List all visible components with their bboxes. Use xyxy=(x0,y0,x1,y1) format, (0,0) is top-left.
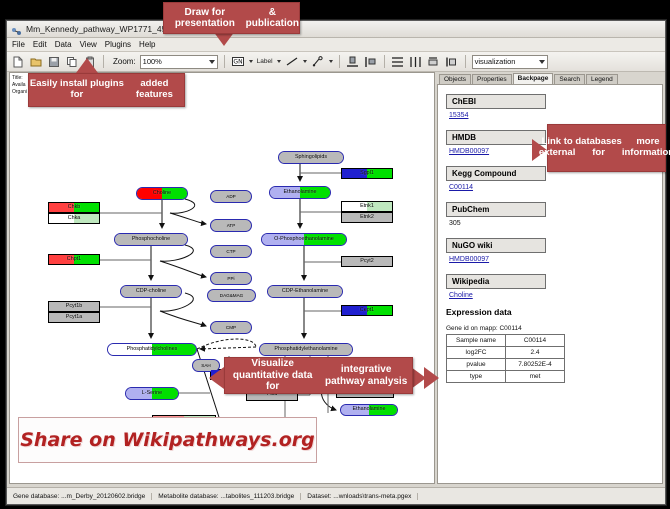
gene-node-pcyt2[interactable]: Pcyt2 xyxy=(341,256,393,267)
database-header-hmdb: HMDB xyxy=(446,130,546,145)
callout-expression-pointer xyxy=(424,367,439,389)
send-to-back-icon[interactable] xyxy=(445,55,459,69)
expression-row-value: met xyxy=(506,371,565,383)
window-titlebar: Mm_Kennedy_pathway_WP1771_45176.gpml xyxy=(7,21,665,38)
statusbar: Gene database: ...m_Derby_20120602.bridg… xyxy=(7,487,665,504)
node-label: Chka xyxy=(68,216,81,221)
database-header-wikipedia: Wikipedia xyxy=(446,274,546,289)
metabolite-node-o-phosphoethanolamine[interactable]: O-Phosphoethanolamine xyxy=(261,233,347,246)
expression-data-table: Sample nameC00114log2FC2.4pvalue7.80252E… xyxy=(446,334,565,383)
gene-node-pcyt1b[interactable]: Pcyt1b xyxy=(48,301,100,312)
visualization-combobox[interactable]: visualization xyxy=(472,55,548,69)
expression-row-value: C00114 xyxy=(506,335,565,347)
tab-backpage[interactable]: Backpage xyxy=(513,73,554,84)
screenshot-root: Mm_Kennedy_pathway_WP1771_45176.gpml Fil… xyxy=(0,0,670,509)
zoom-combobox[interactable]: 100% xyxy=(140,55,218,69)
expression-row-value: 2.4 xyxy=(506,347,565,359)
callout-install-plugins: Easily install plugins foradded features xyxy=(28,73,185,107)
interaction-tool-icon[interactable] xyxy=(311,55,325,69)
zoom-value: 100% xyxy=(143,57,162,66)
database-value-chebi[interactable]: 15354 xyxy=(449,112,654,119)
gene-node-etnk1[interactable]: Etnk1 xyxy=(341,201,393,212)
distribute-horizontal-icon[interactable] xyxy=(409,55,423,69)
tab-search[interactable]: Search xyxy=(554,74,585,84)
database-value-nugo-wiki[interactable]: HMDB00097 xyxy=(449,256,654,263)
tab-objects[interactable]: Objects xyxy=(439,74,471,84)
node-label: Chkb xyxy=(68,205,81,210)
cofactor-node-adp[interactable]: ADP xyxy=(210,190,252,203)
datanode-dropdown-icon[interactable] xyxy=(249,60,253,63)
callout-visualize-data: Visualize quantitative data forintegrati… xyxy=(224,357,413,394)
metabolite-node-cdp-ethanolamine[interactable]: CDP-Ethanolamine xyxy=(267,285,343,298)
expression-row-value: 7.80252E-4 xyxy=(506,359,565,371)
expression-row-label: log2FC xyxy=(447,347,506,359)
status-gene-database: Gene database: ...m_Derby_20120602.bridg… xyxy=(7,493,152,500)
menu-item-help[interactable]: Help xyxy=(139,40,155,49)
align-bottom-icon[interactable] xyxy=(346,55,360,69)
tab-legend[interactable]: Legend xyxy=(586,74,618,84)
visualization-value: visualization xyxy=(475,57,516,66)
expression-row-label: pvalue xyxy=(447,359,506,371)
cofactor-node-atp[interactable]: ATP xyxy=(210,219,252,232)
database-header-kegg-compound: Kegg Compound xyxy=(446,166,546,181)
metabolite-node-l-serine-left[interactable]: L-Serine xyxy=(125,387,179,400)
side-panel-tabs[interactable]: ObjectsPropertiesBackpageSearchLegend xyxy=(437,72,663,84)
database-header-nugo-wiki: NuGO wiki xyxy=(446,238,546,253)
label-dropdown-icon[interactable] xyxy=(277,60,281,63)
node-label: L-Serine xyxy=(142,391,162,396)
database-value-pubchem: 305 xyxy=(449,220,654,227)
node-label: Pcyt2 xyxy=(360,259,373,264)
line-dropdown-icon[interactable] xyxy=(303,60,307,63)
status-metabolite-database: Metabolite database: ...tabolites_111203… xyxy=(152,493,301,500)
metabolite-node-phosphatidylethanolamine[interactable]: Phosphatidylethanolamine xyxy=(259,343,353,356)
toolbar-separator-1 xyxy=(103,55,104,68)
share-text: Share on Wikipathways.org xyxy=(20,429,314,451)
svg-text:GN: GN xyxy=(233,59,242,66)
toolbar[interactable]: Zoom: 100% GN Label xyxy=(7,52,665,72)
database-value-wikipedia[interactable]: Choline xyxy=(449,292,654,299)
node-label: Phosphatidylethanolamine xyxy=(274,347,337,352)
expression-row-label: type xyxy=(447,371,506,383)
node-label: Sphingolipids xyxy=(295,155,327,160)
callout-external-links: Link to externaldatabases formore inform… xyxy=(547,124,666,172)
database-header-pubchem: PubChem xyxy=(446,202,546,217)
node-label: Phosphocholine xyxy=(132,237,170,242)
table-row: typemet xyxy=(447,371,565,383)
tab-properties[interactable]: Properties xyxy=(472,74,512,84)
callout-share-wikipathways: Share on Wikipathways.org xyxy=(18,417,317,463)
database-header-chebi: ChEBI xyxy=(446,94,546,109)
save-icon[interactable] xyxy=(47,55,61,69)
metabolite-node-ethanolamine-right[interactable]: Ethanolamine xyxy=(340,404,398,416)
node-label: Choline xyxy=(153,191,171,196)
node-label: Ethanolamine xyxy=(353,407,386,412)
node-label: CDP-choline xyxy=(136,289,166,294)
toolbar-separator-4 xyxy=(384,55,385,68)
menu-item-file[interactable]: File xyxy=(12,40,25,49)
gene-node-etnk2[interactable]: Etnk2 xyxy=(341,212,393,223)
callout-plugins-pointer xyxy=(76,58,98,73)
cofactor-node-ctp[interactable]: CTP xyxy=(210,245,252,258)
node-label: Etnk2 xyxy=(360,215,374,220)
metabolite-node-phosphatidylcholines[interactable]: Phosphatidylcholines xyxy=(107,343,197,356)
node-label: Pcyt1a xyxy=(66,315,82,320)
gene-node-cept1[interactable]: Cept1 xyxy=(341,305,393,316)
toolbar-separator-5 xyxy=(465,55,466,68)
metabolite-node-cdp-choline[interactable]: CDP-choline xyxy=(120,285,182,298)
label-tool-label[interactable]: Label xyxy=(257,58,273,65)
distribute-vertical-icon[interactable] xyxy=(391,55,405,69)
callout-draw-for-publication: Draw for presentation& publication xyxy=(163,2,300,34)
toolbar-separator-2 xyxy=(224,55,225,68)
toolbar-separator-3 xyxy=(339,55,340,68)
pathvisio-icon xyxy=(11,24,22,35)
menu-item-data[interactable]: Data xyxy=(55,40,72,49)
gene-node-pcyt1a[interactable]: Pcyt1a xyxy=(48,312,100,323)
align-left-icon[interactable] xyxy=(364,55,378,69)
database-value-kegg-compound[interactable]: C00114 xyxy=(449,184,654,191)
gene-node-chka[interactable]: Chka xyxy=(48,213,100,224)
node-label: Cept1 xyxy=(360,308,374,313)
cofactor-node-ppi[interactable]: PPi xyxy=(210,272,252,285)
node-label: O-Phosphoethanolamine xyxy=(274,237,334,242)
status-dataset: Dataset: ...wnloads\trans-meta.pgex xyxy=(301,493,418,500)
menu-item-plugins[interactable]: Plugins xyxy=(105,40,131,49)
expression-row-label: Sample name xyxy=(447,335,506,347)
interaction-dropdown-icon[interactable] xyxy=(329,60,333,63)
datanode-icon[interactable]: GN xyxy=(231,55,245,69)
node-label: Pcyt1b xyxy=(66,304,82,309)
table-row: Sample nameC00114 xyxy=(447,335,565,347)
metabolite-node-sphingolipids[interactable]: Sphingolipids xyxy=(278,151,344,164)
menu-item-view[interactable]: View xyxy=(80,40,97,49)
gene-node-chpt1[interactable]: Chpt1 xyxy=(48,254,100,265)
expression-data-heading: Expression data xyxy=(446,307,654,317)
gene-id-line: Gene id on mapp: C00114 xyxy=(446,325,654,332)
table-row: pvalue7.80252E-4 xyxy=(447,359,565,371)
menu-item-edit[interactable]: Edit xyxy=(33,40,47,49)
cofactor-node-dag-mag[interactable]: DAG&MAG xyxy=(207,289,256,302)
metabolite-node-choline-top[interactable]: Choline xyxy=(136,187,188,200)
database-link-list: ChEBI15354HMDBHMDB00097Kegg CompoundC001… xyxy=(446,91,654,299)
metabolite-node-ethanolamine[interactable]: Ethanolamine xyxy=(269,186,331,199)
gene-node-chkb[interactable]: Chkb xyxy=(48,202,100,213)
open-folder-icon[interactable] xyxy=(29,55,43,69)
cofactor-node-cmp[interactable]: CMP xyxy=(210,321,252,334)
table-row: log2FC2.4 xyxy=(447,347,565,359)
node-label: CDP-Ethanolamine xyxy=(282,289,328,294)
gene-node-sgpl1[interactable]: Sgpl1 xyxy=(341,168,393,179)
zoom-label: Zoom: xyxy=(113,57,136,66)
node-label: Phosphatidylcholines xyxy=(127,347,178,352)
chevron-down-icon xyxy=(539,60,545,64)
menubar[interactable]: File Edit Data View Plugins Help xyxy=(7,38,665,52)
bring-to-front-icon[interactable] xyxy=(427,55,441,69)
line-tool-icon[interactable] xyxy=(285,55,299,69)
new-file-icon[interactable] xyxy=(11,55,25,69)
node-label: Ethanolamine xyxy=(284,190,317,195)
chevron-down-icon xyxy=(209,60,215,64)
metabolite-node-phosphocholine[interactable]: Phosphocholine xyxy=(114,233,188,246)
callout-visualize-pointer-left xyxy=(209,367,224,389)
node-label: Sgpl1 xyxy=(360,171,374,176)
node-label: Chpt1 xyxy=(67,257,81,262)
node-label: Etnk1 xyxy=(360,204,374,209)
